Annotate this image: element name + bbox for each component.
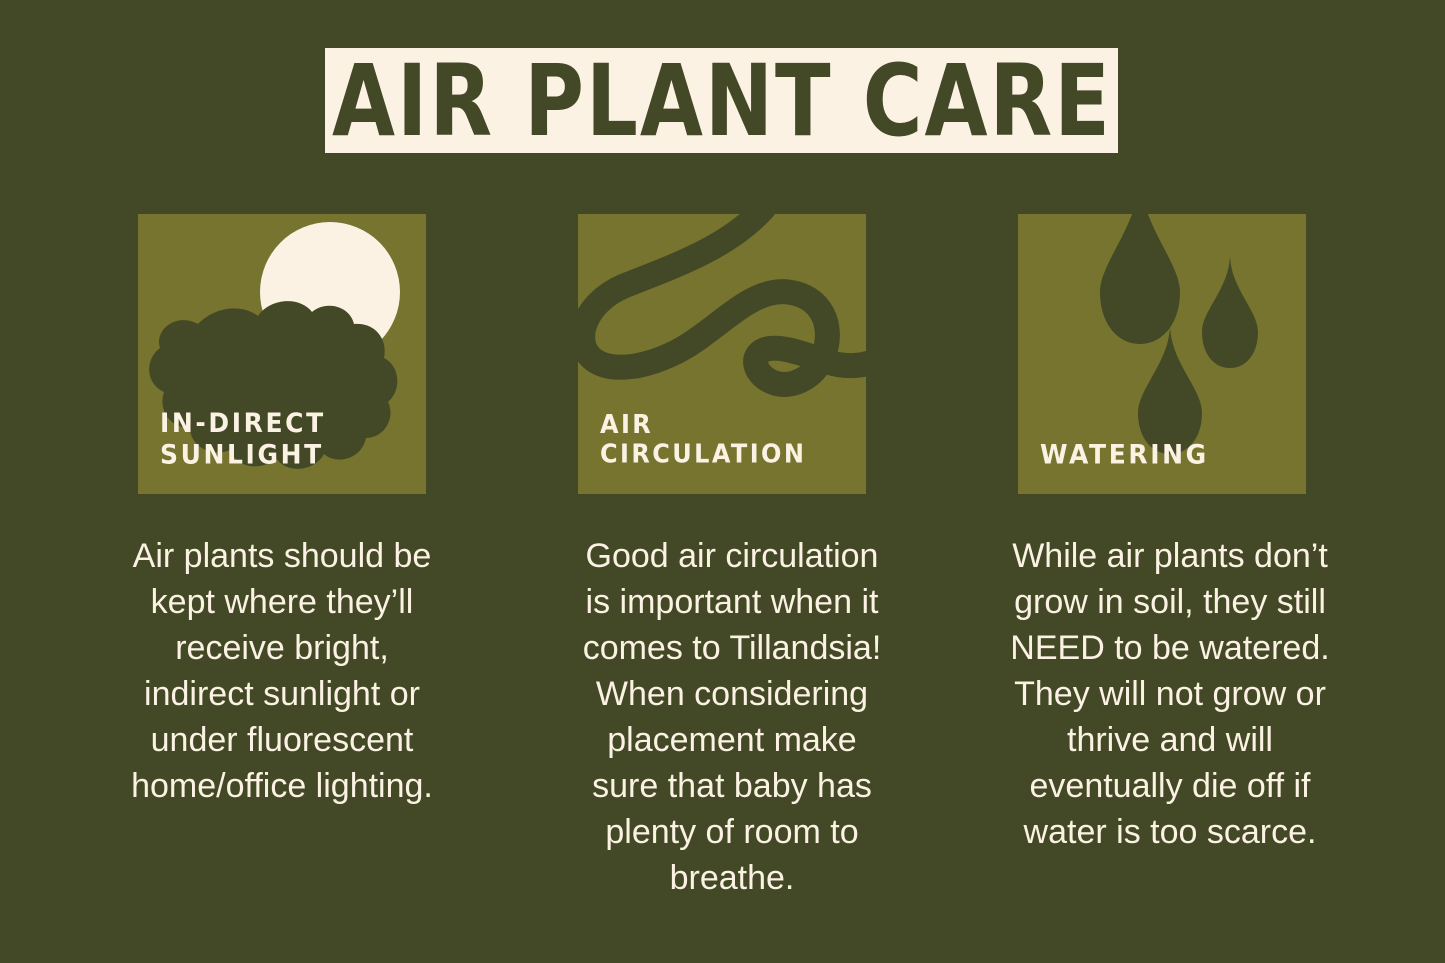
icon-tile-air-circulation: AIR CIRCULATION: [578, 214, 866, 494]
icon-tile-watering: WATERING: [1018, 214, 1306, 494]
icon-tile-label: WATERING: [1040, 439, 1296, 470]
card-body-text: Good air circulation is important when i…: [572, 533, 892, 901]
card-body-text: Air plants should be kept where they’ll …: [124, 533, 440, 809]
card-body-text: While air plants don’t grow in soil, the…: [1010, 533, 1330, 855]
care-cards-row: IN-DIRECT SUNLIGHT Air plants should be …: [0, 0, 1445, 963]
icon-tile-label: AIR CIRCULATION: [600, 410, 856, 470]
care-card-air-circulation: AIR CIRCULATION Good air circulation is …: [578, 0, 1018, 963]
care-card-indirect-sunlight: IN-DIRECT SUNLIGHT Air plants should be …: [138, 0, 578, 963]
icon-tile-label: IN-DIRECT SUNLIGHT: [160, 407, 416, 470]
care-card-watering: WATERING While air plants don’t grow in …: [1018, 0, 1445, 963]
icon-tile-indirect-sunlight: IN-DIRECT SUNLIGHT: [138, 214, 426, 494]
